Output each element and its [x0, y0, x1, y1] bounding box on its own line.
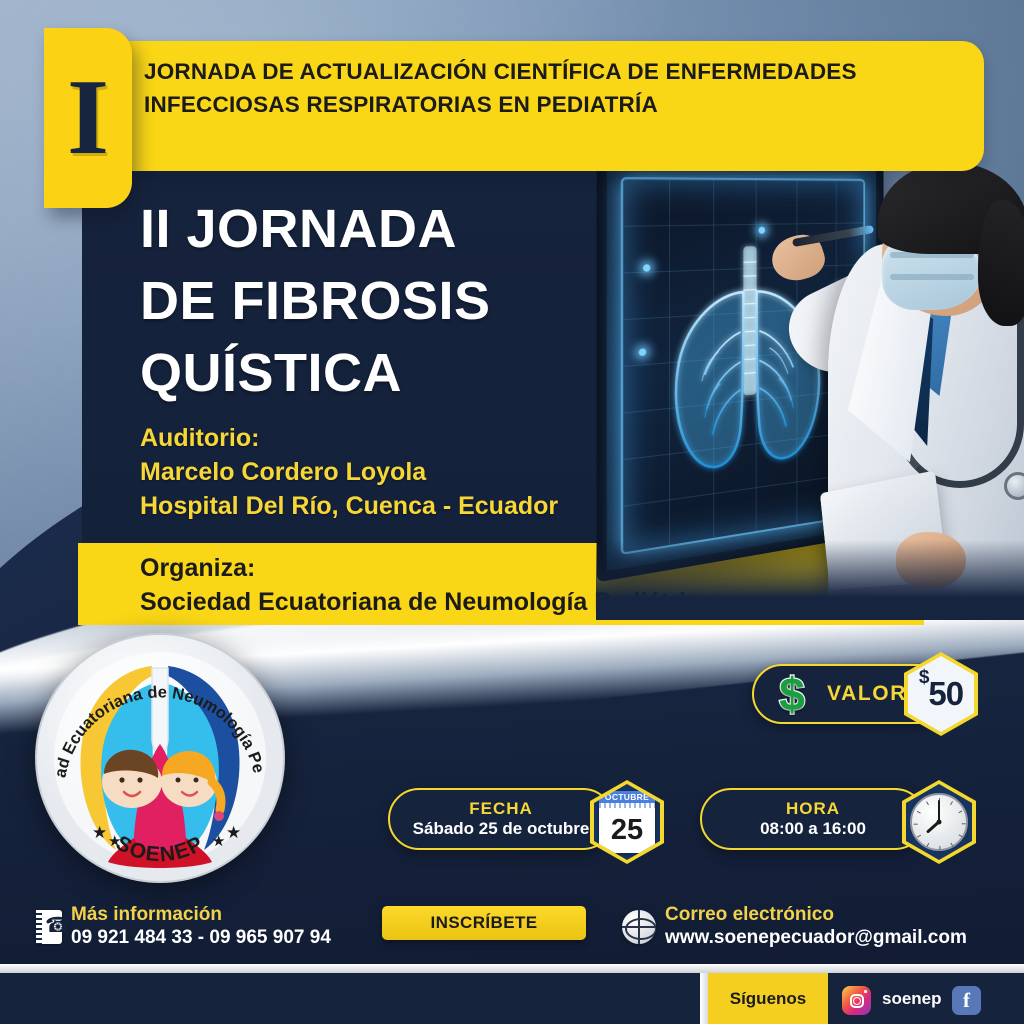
follow-tab-edge [700, 973, 708, 1024]
svg-text:★: ★ [212, 833, 225, 850]
date-value: Sábado 25 de octubre [413, 818, 590, 840]
svg-text:★: ★ [108, 833, 121, 850]
date-badge: FECHA Sábado 25 de octubre [388, 788, 614, 850]
time-label: HORA [786, 799, 840, 818]
email-value: www.soenepecuador@gmail.com [665, 926, 967, 950]
price-amount: $50 [919, 675, 963, 713]
price-currency-symbol: $ [919, 667, 929, 688]
dollar-sign-icon: $ [764, 666, 820, 722]
date-label: FECHA [469, 799, 533, 818]
page-title-line-2: DE FIBROSIS [140, 265, 491, 337]
phone-contact[interactable]: ☎ Más información 09 921 484 33 - 09 965… [36, 904, 331, 950]
footer-divider [0, 964, 1024, 973]
follow-us-label: Síguenos [708, 973, 828, 1024]
instagram-handle[interactable]: soenep [882, 989, 942, 1009]
svg-text:★: ★ [92, 823, 107, 842]
page-title-line-3: QUÍSTICA [140, 337, 491, 409]
header-title: JORNADA DE ACTUALIZACIÓN CIENTÍFICA DE E… [144, 55, 966, 121]
calendar-day: 25 [599, 808, 655, 853]
globe-icon [622, 910, 656, 944]
email-contact[interactable]: Correo electrónico www.soenepecuador@gma… [622, 904, 967, 950]
header-banner: JORNADA DE ACTUALIZACIÓN CIENTÍFICA DE E… [126, 41, 984, 171]
facebook-icon[interactable]: f [952, 986, 981, 1015]
calendar-icon: OCTUBRE 25 [599, 791, 655, 853]
instagram-icon[interactable] [842, 986, 871, 1015]
image-bottom-fade [596, 540, 1024, 620]
page-title: II JORNADA DE FIBROSIS QUÍSTICA [140, 193, 491, 409]
register-button[interactable]: INSCRÍBETE [382, 906, 586, 940]
time-value: 08:00 a 16:00 [760, 818, 866, 840]
email-label: Correo electrónico [665, 904, 967, 926]
edition-numeral-label: I [67, 64, 109, 172]
calendar-month: OCTUBRE [599, 791, 655, 803]
venue-block: Auditorio: Marcelo Cordero Loyola Hospit… [140, 421, 558, 523]
phone-numbers: 09 921 484 33 - 09 965 907 94 [71, 926, 331, 950]
page-title-line-1: II JORNADA [140, 193, 491, 265]
venue-label: Auditorio: [140, 421, 558, 455]
time-badge: HORA 08:00 a 16:00 [700, 788, 926, 850]
edition-numeral-badge: I [44, 28, 132, 208]
phone-label: Más información [71, 904, 331, 926]
venue-name: Marcelo Cordero Loyola [140, 455, 558, 489]
price-amount-value: 50 [928, 675, 963, 712]
clock-icon [910, 793, 968, 851]
price-label: VALOR [827, 682, 907, 706]
svg-text:★: ★ [226, 823, 241, 842]
venue-location: Hospital Del Río, Cuenca - Ecuador [140, 489, 558, 523]
soenep-logo: Sociedad Ecuatoriana de Neumología Pediá… [26, 624, 294, 892]
doctor-xray-illustration [596, 140, 1024, 620]
stethoscope-bell-icon [1004, 472, 1024, 500]
poster-canvas: I JORNADA DE ACTUALIZACIÓN CIENTÍFICA DE… [0, 0, 1024, 1024]
doctor-hair-back [978, 200, 1024, 326]
phone-book-icon: ☎ [36, 910, 62, 944]
